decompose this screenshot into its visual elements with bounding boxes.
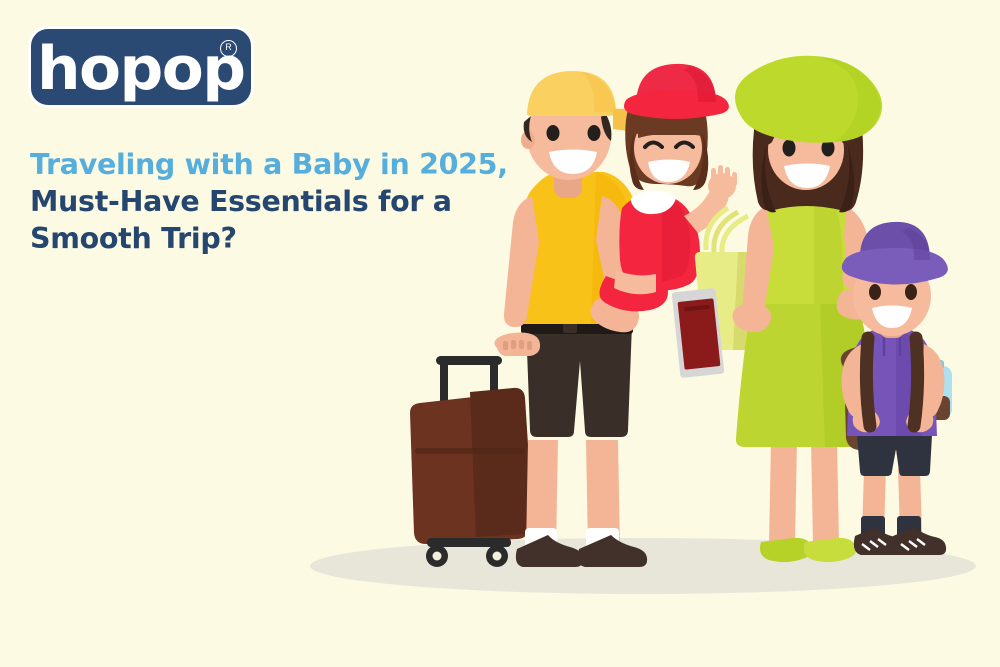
passport-and-tickets bbox=[672, 288, 725, 378]
hopop-logo[interactable]: hopop R bbox=[28, 26, 254, 108]
registered-trademark-icon: R bbox=[220, 40, 237, 57]
father-hand-on-handle bbox=[494, 333, 540, 357]
father-left-eye bbox=[547, 125, 560, 141]
boy-left-eye bbox=[869, 284, 881, 300]
headline-line-1: Traveling with a Baby in 2025, bbox=[30, 146, 500, 183]
boy-figure bbox=[841, 222, 952, 555]
boy-shorts bbox=[856, 430, 932, 476]
headline-line-3: Smooth Trip? bbox=[30, 220, 500, 257]
logo-inner: hopop R bbox=[31, 29, 251, 105]
boy-strap-right bbox=[914, 338, 918, 426]
boy-strap-left bbox=[866, 338, 870, 426]
page-title: Traveling with a Baby in 2025, Must-Have… bbox=[30, 146, 500, 257]
suitcase-handle-grip bbox=[436, 356, 502, 365]
mother-left-eye bbox=[783, 140, 796, 157]
father-shorts bbox=[523, 318, 632, 437]
father-right-eye bbox=[588, 125, 601, 141]
girl-waving-hand bbox=[708, 165, 737, 199]
blog-banner: hopop R Traveling with a Baby in 2025, M… bbox=[0, 0, 1000, 667]
boy-right-eye bbox=[905, 284, 917, 300]
headline-line-2: Must-Have Essentials for a bbox=[30, 183, 500, 220]
logo-wordmark: hopop bbox=[37, 39, 245, 99]
suitcase bbox=[410, 356, 533, 567]
